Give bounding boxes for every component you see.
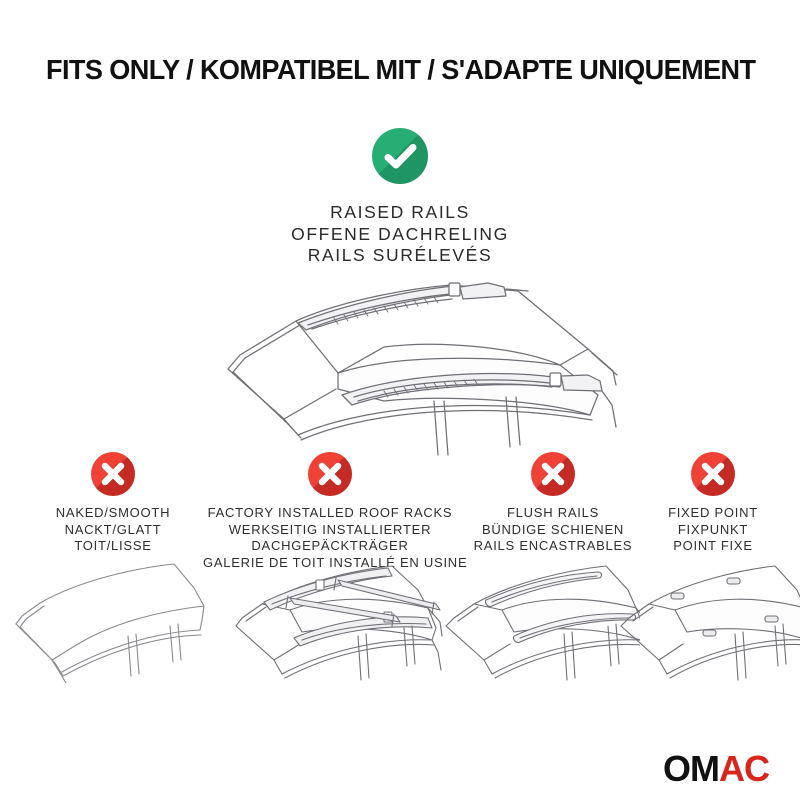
label-line-2: NACKT/GLATT — [13, 522, 213, 539]
label-line-1: NAKED/SMOOTH — [13, 505, 213, 522]
compatible-label-en: RAISED RAILS — [0, 202, 800, 224]
x-circle-icon — [91, 452, 135, 496]
page-title: FITS ONLY / KOMPATIBEL MIT / S'ADAPTE UN… — [46, 54, 755, 86]
label-line-2: BÜNDIGE SCHIENEN — [455, 522, 651, 539]
incompatible-labels: FIXED POINT FIXPUNKT POINT FIXE — [638, 505, 788, 555]
x-circle-icon — [531, 452, 575, 496]
flush-rails-illustration — [440, 556, 640, 684]
incompatible-labels: NAKED/SMOOTH NACKT/GLATT TOIT/LISSE — [13, 505, 213, 555]
logo-text-ac: AC — [719, 748, 769, 789]
compatible-section: RAISED RAILS OFFENE DACHRELING RAILS SUR… — [0, 128, 800, 267]
header-banner: FITS ONLY / KOMPATIBEL MIT / S'ADAPTE UN… — [0, 0, 800, 100]
label-line-3: RAILS ENCASTRABLES — [455, 538, 651, 555]
raised-rails-illustration — [188, 277, 618, 457]
x-circle-icon — [691, 452, 735, 496]
logo-text-om: OM — [663, 748, 719, 789]
label-line-3: POINT FIXE — [638, 538, 788, 555]
label-line-3: TOIT/LISSE — [13, 538, 213, 555]
incompatible-item-flush-rails: FLUSH RAILS BÜNDIGE SCHIENEN RAILS ENCAS… — [455, 452, 651, 555]
omac-logo: OMAC — [663, 751, 769, 787]
naked-smooth-illustration — [8, 558, 208, 683]
incompatible-labels: FLUSH RAILS BÜNDIGE SCHIENEN RAILS ENCAS… — [455, 505, 651, 555]
compatible-label-fr: RAILS SURÉLEVÉS — [0, 245, 800, 267]
label-line-2: WERKSEITIG INSTALLIERTER — [203, 522, 457, 539]
label-line-1: FIXED POINT — [638, 505, 788, 522]
check-circle-icon — [372, 128, 428, 184]
label-line-1: FACTORY INSTALLED ROOF RACKS — [203, 505, 457, 522]
incompatible-item-fixed-point: FIXED POINT FIXPUNKT POINT FIXE — [638, 452, 788, 555]
incompatible-item-naked-smooth: NAKED/SMOOTH NACKT/GLATT TOIT/LISSE — [13, 452, 213, 555]
label-line-2: FIXPUNKT — [638, 522, 788, 539]
compatible-labels: RAISED RAILS OFFENE DACHRELING RAILS SUR… — [0, 202, 800, 267]
label-line-1: FLUSH RAILS — [455, 505, 651, 522]
factory-roof-rack-illustration — [228, 552, 443, 684]
x-circle-icon — [308, 452, 352, 496]
fixed-point-illustration — [615, 556, 800, 684]
compatible-label-de: OFFENE DACHRELING — [0, 224, 800, 246]
